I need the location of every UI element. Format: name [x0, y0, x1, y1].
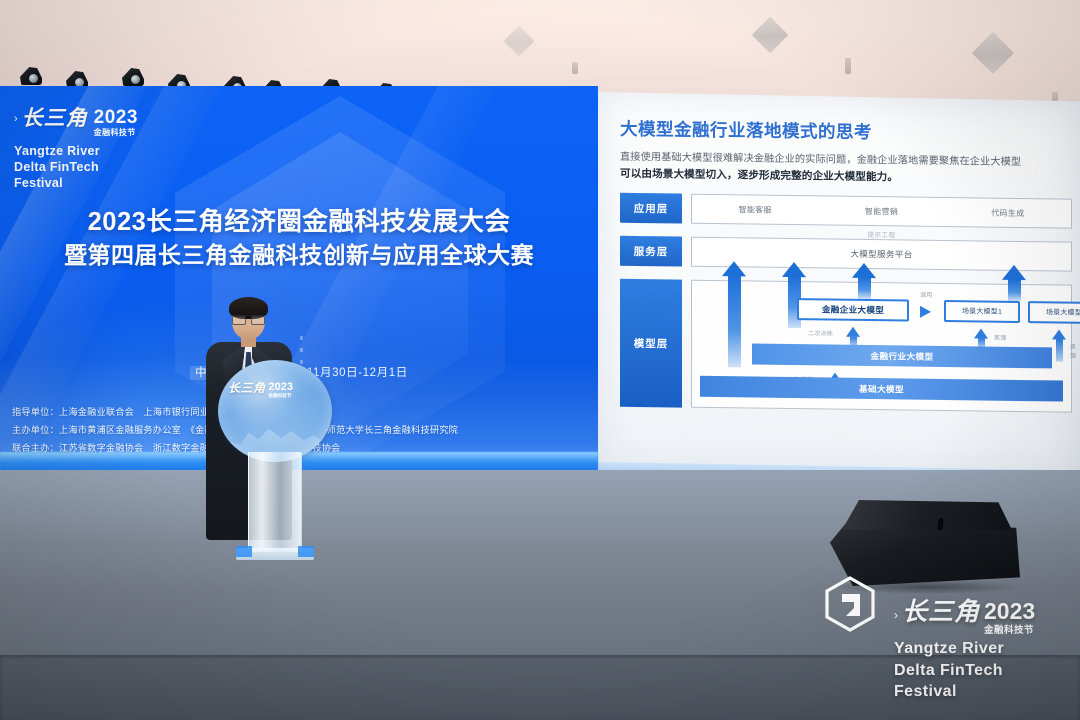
slide-title: 大模型金融行业落地模式的思考: [620, 116, 1076, 147]
lectern-base-accent-left: [236, 546, 252, 557]
scene-model-2-box: 场景大模型2: [1028, 301, 1080, 324]
watermark-en-line2: Delta FinTech: [894, 660, 1004, 682]
watermark-cn-name: 长三角: [902, 600, 980, 625]
monitor-top-face: [842, 500, 1012, 530]
watermark-cn-sub: 金融科技节: [984, 625, 1035, 636]
up-arrow-icon: [1052, 330, 1066, 340]
watermark-year: 2023: [984, 600, 1035, 623]
model-layer-row: 模型层 金融企业大模型: [620, 279, 1072, 413]
hexagon-logo-icon: [824, 576, 876, 632]
tuning-label: 二次训练: [808, 328, 833, 337]
festival-logo: › 长三角 2023 金融科技节 Yangtze River Delta Fin…: [14, 108, 194, 191]
logo-year: 2023: [94, 108, 138, 127]
lectern-logo-sub: 金融科技节: [269, 393, 293, 399]
logo-en-line3: Festival: [14, 175, 194, 191]
up-arrow-stem: [1056, 340, 1063, 362]
projection-screen: 大模型金融行业落地模式的思考 直接使用基础大模型很难解决金融企业的实际问题，金融…: [598, 92, 1080, 479]
lectern-branded-panel: 长三角 2023 金融科技节: [218, 360, 332, 462]
conference-title: 2023长三角经济圈金融科技发展大会 暨第四届长三角金融科技创新与应用全球大赛: [0, 206, 598, 271]
riser-arrow-head: [852, 263, 876, 278]
app-item: 智能营销: [818, 205, 944, 218]
riser-arrow-stem: [728, 275, 741, 367]
conference-stage-photo: › 长三角 2023 金融科技节 Yangtze River Delta Fin…: [0, 0, 1080, 720]
application-layer-box: 智能客服 智能营销 代码生成: [691, 194, 1072, 229]
lectern-logo-year: 2023: [269, 382, 293, 393]
logo-cn-sub: 金融科技节: [94, 128, 138, 138]
watermark-en-line3: Festival: [894, 681, 1004, 703]
enterprise-model-box: 金融企业大模型: [797, 298, 909, 321]
logo-cn-name: 长三角: [22, 108, 88, 129]
riser-arrow-stem: [858, 277, 871, 299]
invoke-arrow-icon: [920, 306, 931, 318]
lectern: 长三角 2023 金融科技节: [218, 360, 332, 560]
architecture-diagram: 应用层 智能客服 智能营销 代码生成 服务层 提示工程 大模型服务平台: [620, 193, 1072, 413]
lectern-logo-cn: 长三角: [228, 382, 266, 394]
riser-arrow-head: [722, 261, 746, 276]
conference-title-line2: 暨第四届长三角金融科技创新与应用全球大赛: [0, 240, 598, 271]
up-arrow-icon: [846, 327, 860, 337]
scene-model-1-box: 场景大模型1: [944, 300, 1020, 323]
service-layer-tag: 服务层: [620, 236, 682, 267]
watermark-arrow-icon: ›: [894, 608, 898, 622]
lectern-base-accent-right: [298, 546, 314, 557]
model-layer-tag: 模型层: [620, 279, 682, 408]
industry-model-box: 金融行业大模型: [752, 344, 1052, 369]
app-item: 代码生成: [945, 207, 1071, 220]
watermark-en-line1: Yangtze River: [894, 638, 1004, 660]
distill-label: 蒸馏: [994, 333, 1007, 342]
base-model-box: 基础大模型: [700, 376, 1063, 402]
logo-en-line1: Yangtze River: [14, 143, 194, 159]
riser-arrow-stem: [1008, 279, 1021, 301]
logo-arrow-icon: ›: [14, 114, 18, 125]
up-arrow-icon: [974, 329, 988, 339]
invoke-arrow-label: 调用: [920, 290, 933, 299]
conference-title-line1: 2023长三角经济圈金融科技发展大会: [0, 206, 598, 240]
speaker-glasses: [232, 315, 265, 322]
model-layer-box: 金融企业大模型 调用 场景大模型1 场景大模型2 二次训练 蒸馏: [691, 280, 1072, 413]
application-layer-row: 应用层 智能客服 智能营销 代码生成: [620, 193, 1072, 229]
riser-arrow-head: [1002, 265, 1026, 280]
corner-watermark: › 长三角 2023 金融科技节 Yangtze River Delta Fin…: [818, 576, 1076, 712]
logo-en-line2: Delta FinTech: [14, 159, 194, 175]
distill-label-2: 蒸馏: [1070, 342, 1076, 360]
riser-arrow-head: [782, 262, 806, 277]
stage-light-icon: [20, 67, 42, 85]
slide-body: 直接使用基础大模型很难解决金融企业的实际问题，金融企业落地需要聚焦在企业大模型 …: [620, 150, 1075, 188]
stage-light-icon: [122, 68, 144, 86]
app-item: 智能客服: [692, 203, 818, 216]
application-layer-tag: 应用层: [620, 193, 682, 224]
lectern-column: [248, 452, 302, 552]
